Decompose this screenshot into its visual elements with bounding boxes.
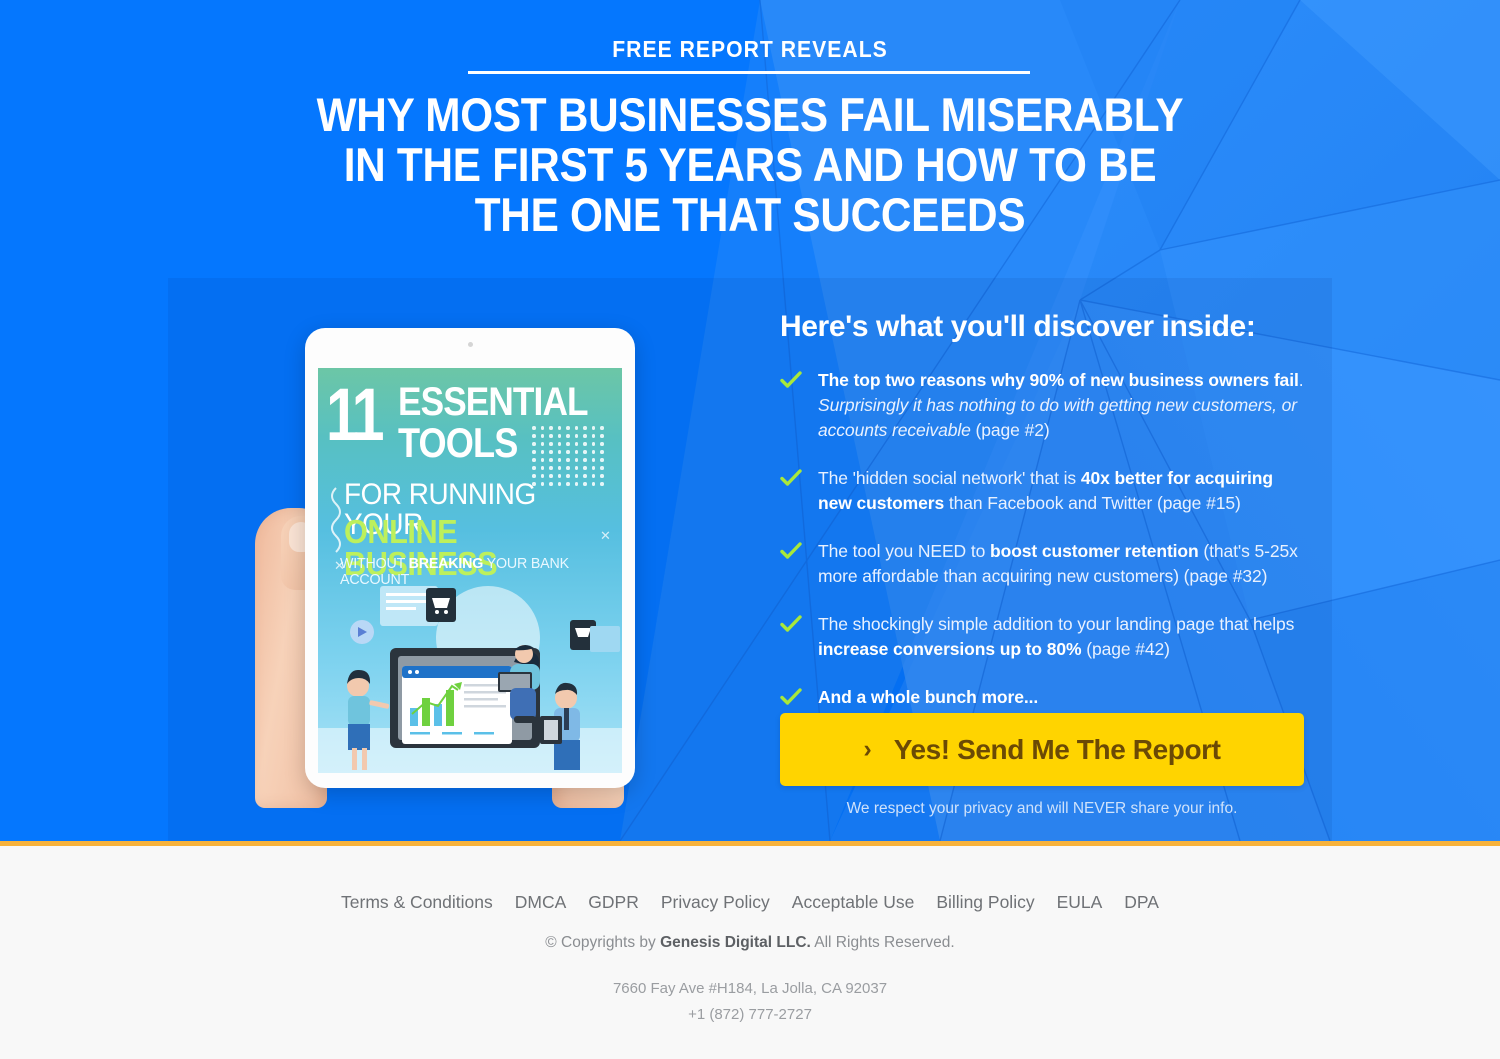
cover-line-tools: TOOLS <box>398 424 517 462</box>
cta-button[interactable]: › Yes! Send Me The Report <box>780 713 1304 786</box>
check-icon <box>780 542 802 560</box>
headline-line-3: THE ONE THAT SUCCEEDS <box>75 190 1425 240</box>
benefit-text: And a whole bunch more... <box>818 687 1038 707</box>
cta-button-label: Yes! Send Me The Report <box>894 734 1221 766</box>
benefit-item: The shockingly simple addition to your l… <box>780 612 1310 662</box>
cover-illustration <box>318 578 622 773</box>
check-icon <box>780 615 802 633</box>
footer-copyright: © Copyrights by Genesis Digital LLC. All… <box>0 934 1500 952</box>
footer-link[interactable]: GDPR <box>588 892 639 913</box>
footer-link[interactable]: EULA <box>1057 892 1103 913</box>
page-headline: WHY MOST BUSINESSES FAIL MISERABLY IN TH… <box>75 90 1425 240</box>
benefit-text: The shockingly simple addition to your l… <box>818 614 1294 659</box>
benefit-item: The 'hidden social network' that is 40x … <box>780 466 1310 516</box>
footer-link[interactable]: Acceptable Use <box>792 892 915 913</box>
footer-links: Terms & ConditionsDMCAGDPRPrivacy Policy… <box>0 892 1500 913</box>
footer-address-block: 7660 Fay Ave #H184, La Jolla, CA 92037 +… <box>0 976 1500 1028</box>
footer-link[interactable]: Privacy Policy <box>661 892 770 913</box>
benefit-item: And a whole bunch more... <box>780 685 1310 710</box>
ebook-cover: 11 ESSENTIAL TOOLS FOR RUNNING YOUR ONLI… <box>318 368 622 773</box>
cover-without-pre: WITHOUT <box>340 555 409 572</box>
squiggle-decoration <box>328 486 344 556</box>
footer-link[interactable]: Billing Policy <box>936 892 1034 913</box>
benefit-text: The tool you NEED to boost customer rete… <box>818 541 1298 586</box>
hero-section: FREE REPORT REVEALS WHY MOST BUSINESSES … <box>0 0 1500 841</box>
discover-heading: Here's what you'll discover inside: <box>780 310 1310 344</box>
headline-line-1: WHY MOST BUSINESSES FAIL MISERABLY <box>75 90 1425 140</box>
x-decoration-right: ✕ <box>600 528 611 544</box>
check-icon <box>780 371 802 389</box>
chevron-right-icon: › <box>863 737 871 762</box>
camera-icon <box>468 342 473 347</box>
cover-line-without: WITHOUT BREAKING YOUR BANK ACCOUNT <box>340 556 616 588</box>
landing-page: FREE REPORT REVEALS WHY MOST BUSINESSES … <box>0 0 1500 1059</box>
x-decoration-left: ✕ <box>334 558 345 574</box>
footer-link[interactable]: DMCA <box>515 892 567 913</box>
ebook-mockup: 11 ESSENTIAL TOOLS FOR RUNNING YOUR ONLI… <box>200 300 680 841</box>
headline-line-2: IN THE FIRST 5 YEARS AND HOW TO BE <box>75 140 1425 190</box>
tablet-device: 11 ESSENTIAL TOOLS FOR RUNNING YOUR ONLI… <box>305 328 635 788</box>
copyright-pre: © Copyrights by <box>545 934 660 951</box>
benefit-item: The top two reasons why 90% of new busin… <box>780 368 1310 443</box>
footer-link[interactable]: DPA <box>1124 892 1159 913</box>
footer-phone: +1 (872) 777-2727 <box>0 1002 1500 1028</box>
cover-line-essential: ESSENTIAL <box>398 384 588 420</box>
footer-link[interactable]: Terms & Conditions <box>341 892 493 913</box>
check-icon <box>780 469 802 487</box>
cover-without-bold: BREAKING <box>409 555 483 572</box>
footer-section: Terms & ConditionsDMCAGDPRPrivacy Policy… <box>0 846 1500 1059</box>
footer-address: 7660 Fay Ave #H184, La Jolla, CA 92037 <box>0 976 1500 1002</box>
benefits-list: The top two reasons why 90% of new busin… <box>780 368 1310 710</box>
kicker-divider <box>468 71 1030 74</box>
benefit-text: The top two reasons why 90% of new busin… <box>818 370 1303 440</box>
copyright-company: Genesis Digital LLC. <box>660 934 811 951</box>
copyright-post: All Rights Reserved. <box>811 934 955 951</box>
check-icon <box>780 688 802 706</box>
benefit-item: The tool you NEED to boost customer rete… <box>780 539 1310 589</box>
cover-number: 11 <box>326 380 381 450</box>
dot-grid-decoration <box>532 426 612 488</box>
privacy-note: We respect your privacy and will NEVER s… <box>780 800 1304 818</box>
benefits-column: Here's what you'll discover inside: The … <box>780 310 1310 710</box>
kicker-text: FREE REPORT REVEALS <box>60 36 1440 63</box>
benefit-text: The 'hidden social network' that is 40x … <box>818 468 1273 513</box>
